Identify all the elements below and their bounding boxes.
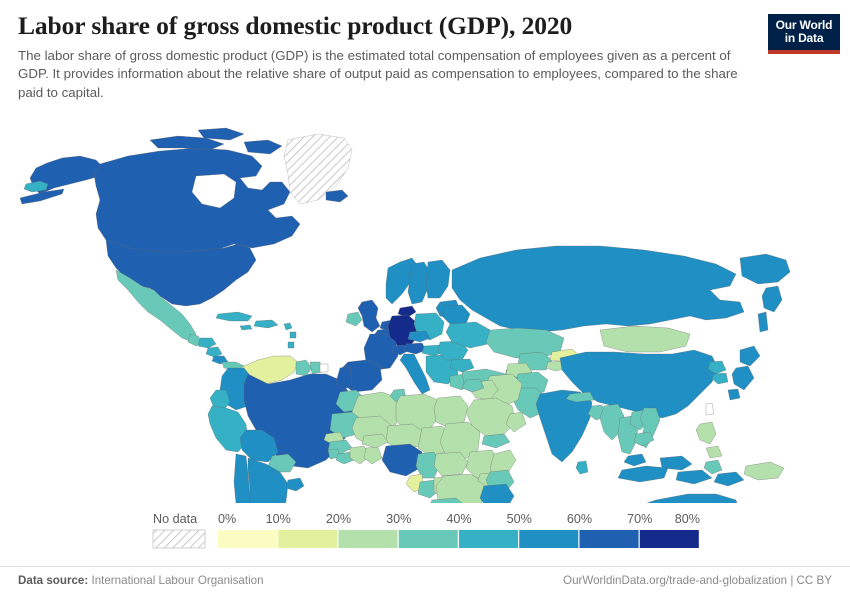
legend-tick-60: 60% — [567, 512, 592, 526]
country-united-kingdom[interactable] — [358, 300, 380, 332]
country-philippines[interactable] — [696, 422, 722, 458]
legend-tick-40: 40% — [446, 512, 471, 526]
country-russia-far-east[interactable] — [740, 254, 790, 284]
country-kamchatka[interactable] — [762, 286, 782, 312]
chart-subtitle: The labor share of gross domestic produc… — [18, 47, 753, 104]
legend-bin-60-70[interactable] — [580, 530, 639, 548]
country-cuba[interactable] — [216, 312, 252, 321]
country-sri-lanka[interactable] — [576, 461, 588, 474]
country-ireland[interactable] — [346, 312, 362, 326]
country-russia[interactable] — [452, 246, 744, 332]
legend-bin-70-80[interactable] — [640, 530, 699, 548]
legend-bin-10-20[interactable] — [278, 530, 337, 548]
legend-tick-0: 0% — [218, 512, 236, 526]
country-japan[interactable] — [728, 346, 760, 400]
country-belarus[interactable] — [442, 305, 470, 324]
legend-tick-50: 50% — [507, 512, 532, 526]
owid-logo[interactable]: Our World in Data — [768, 14, 840, 54]
country-central-african-republic[interactable] — [434, 452, 468, 476]
owid-map-chart: Labor share of gross domestic product (G… — [0, 0, 850, 600]
license-note[interactable]: OurWorldinData.org/trade-and-globalizati… — [563, 574, 832, 587]
country-aleutians[interactable] — [24, 181, 48, 192]
country-iceland[interactable] — [326, 190, 348, 202]
country-jamaica[interactable] — [240, 325, 252, 330]
country-australia[interactable] — [620, 494, 740, 503]
country-papua-new-guinea[interactable] — [744, 462, 784, 480]
legend-bin-40-50[interactable] — [459, 530, 518, 548]
country-italy[interactable] — [400, 354, 430, 394]
page-title: Labor share of gross domestic product (G… — [18, 12, 763, 41]
country-cambodia[interactable] — [634, 432, 654, 446]
legend-tick-70: 70% — [627, 512, 652, 526]
legend-no-data-swatch[interactable] — [153, 530, 205, 548]
legend-tick-10: 10% — [266, 512, 291, 526]
country-uruguay[interactable] — [286, 478, 304, 491]
country-dr-congo[interactable] — [436, 474, 484, 503]
country-taiwan[interactable] — [706, 403, 714, 415]
chart-header: Labor share of gross domestic product (G… — [18, 12, 763, 103]
chart-footer: Data source: International Labour Organi… — [0, 566, 850, 592]
legend-bin-20-30[interactable] — [339, 530, 398, 548]
country-honduras[interactable] — [198, 338, 216, 348]
data-source-value: International Labour Organisation — [91, 574, 263, 587]
country-french-guiana[interactable] — [320, 364, 328, 372]
legend-svg[interactable]: No data0%10%20%30%40%50%60%70%80% — [0, 508, 850, 556]
country-ghana[interactable] — [364, 447, 382, 464]
owid-logo-line2: in Data — [768, 32, 840, 45]
legend-bin-30-40[interactable] — [399, 530, 458, 548]
data-source: Data source: International Labour Organi… — [18, 574, 264, 587]
owid-logo-line1: Our World — [768, 19, 840, 32]
country-sakhalin[interactable] — [758, 312, 768, 332]
country-lesser-antilles[interactable] — [284, 323, 296, 348]
map-legend[interactable]: No data0%10%20%30%40%50%60%70%80% — [0, 508, 850, 556]
legend-tick-20: 20% — [326, 512, 351, 526]
country-canada[interactable] — [94, 148, 300, 254]
legend-bin-50-60[interactable] — [519, 530, 578, 548]
data-source-label: Data source: — [18, 574, 88, 587]
legend-bin-0-10[interactable] — [218, 530, 277, 548]
country-nicaragua[interactable] — [206, 347, 222, 357]
country-sulawesi[interactable] — [704, 460, 722, 474]
country-yemen[interactable] — [482, 434, 510, 448]
country-south-korea[interactable] — [712, 373, 728, 384]
country-guyana[interactable] — [296, 360, 312, 376]
legend-tick-30: 30% — [386, 512, 411, 526]
country-nigeria[interactable] — [382, 444, 422, 476]
legend-no-data-label: No data — [153, 512, 197, 526]
country-finland[interactable] — [426, 260, 450, 298]
world-map-svg[interactable] — [0, 118, 850, 503]
country-hispaniola[interactable] — [254, 320, 278, 328]
world-map[interactable] — [0, 118, 850, 503]
country-mongolia[interactable] — [600, 326, 690, 352]
legend-tick-80: 80% — [675, 512, 700, 526]
